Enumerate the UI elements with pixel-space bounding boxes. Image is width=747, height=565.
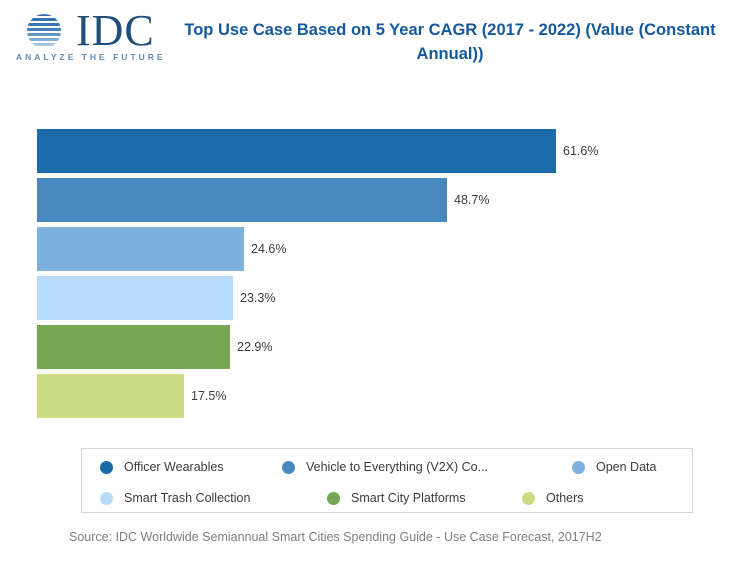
legend-row: Officer WearablesVehicle to Everything (… bbox=[82, 451, 692, 483]
bar-value-label: 61.6% bbox=[563, 144, 598, 158]
bar-3[interactable] bbox=[37, 227, 244, 271]
bar-2[interactable] bbox=[37, 178, 447, 222]
chart-plot-area: 61.6%48.7%24.6%23.3%22.9%17.5% bbox=[0, 92, 747, 422]
chart-header: IDC ANALYZE THE FUTURE Top Use Case Base… bbox=[0, 0, 747, 92]
bar-value-label: 23.3% bbox=[240, 291, 275, 305]
bar-5[interactable] bbox=[37, 325, 230, 369]
legend-row: Smart Trash CollectionSmart City Platfor… bbox=[82, 482, 692, 514]
legend-item[interactable]: Open Data bbox=[572, 460, 656, 474]
idc-logo: IDC ANALYZE THE FUTURE bbox=[12, 10, 164, 64]
bar-value-label: 48.7% bbox=[454, 193, 489, 207]
idc-globe-icon bbox=[18, 11, 70, 53]
legend-swatch-icon bbox=[522, 492, 535, 505]
bar-value-label: 24.6% bbox=[251, 242, 286, 256]
bar-row: 22.9% bbox=[37, 325, 272, 369]
legend-item[interactable]: Others bbox=[522, 491, 584, 505]
legend-item-label: Open Data bbox=[596, 460, 656, 474]
idc-wordmark: IDC bbox=[76, 5, 155, 57]
legend-item-label: Officer Wearables bbox=[124, 460, 224, 474]
bar-row: 48.7% bbox=[37, 178, 489, 222]
bar-row: 17.5% bbox=[37, 374, 226, 418]
legend-item-label: Smart Trash Collection bbox=[124, 491, 250, 505]
bar-row: 24.6% bbox=[37, 227, 286, 271]
legend-item-label: Smart City Platforms bbox=[351, 491, 466, 505]
bar-4[interactable] bbox=[37, 276, 233, 320]
legend-item[interactable]: Officer Wearables bbox=[100, 460, 224, 474]
bar-value-label: 17.5% bbox=[191, 389, 226, 403]
legend-item-label: Others bbox=[546, 491, 584, 505]
legend-item[interactable]: Smart City Platforms bbox=[327, 491, 466, 505]
idc-tagline: ANALYZE THE FUTURE bbox=[16, 52, 166, 62]
legend-swatch-icon bbox=[100, 461, 113, 474]
bar-row: 23.3% bbox=[37, 276, 275, 320]
source-note: Source: IDC Worldwide Semiannual Smart C… bbox=[69, 530, 602, 544]
legend-swatch-icon bbox=[100, 492, 113, 505]
legend-item[interactable]: Vehicle to Everything (V2X) Co... bbox=[282, 460, 488, 474]
chart-title: Top Use Case Based on 5 Year CAGR (2017 … bbox=[170, 18, 730, 66]
bar-6[interactable] bbox=[37, 374, 184, 418]
legend-item-label: Vehicle to Everything (V2X) Co... bbox=[306, 460, 488, 474]
legend-item[interactable]: Smart Trash Collection bbox=[100, 491, 250, 505]
chart-legend: Officer WearablesVehicle to Everything (… bbox=[81, 448, 693, 513]
bar-1[interactable] bbox=[37, 129, 556, 173]
legend-swatch-icon bbox=[282, 461, 295, 474]
bar-value-label: 22.9% bbox=[237, 340, 272, 354]
bar-row: 61.6% bbox=[37, 129, 598, 173]
legend-swatch-icon bbox=[572, 461, 585, 474]
legend-swatch-icon bbox=[327, 492, 340, 505]
